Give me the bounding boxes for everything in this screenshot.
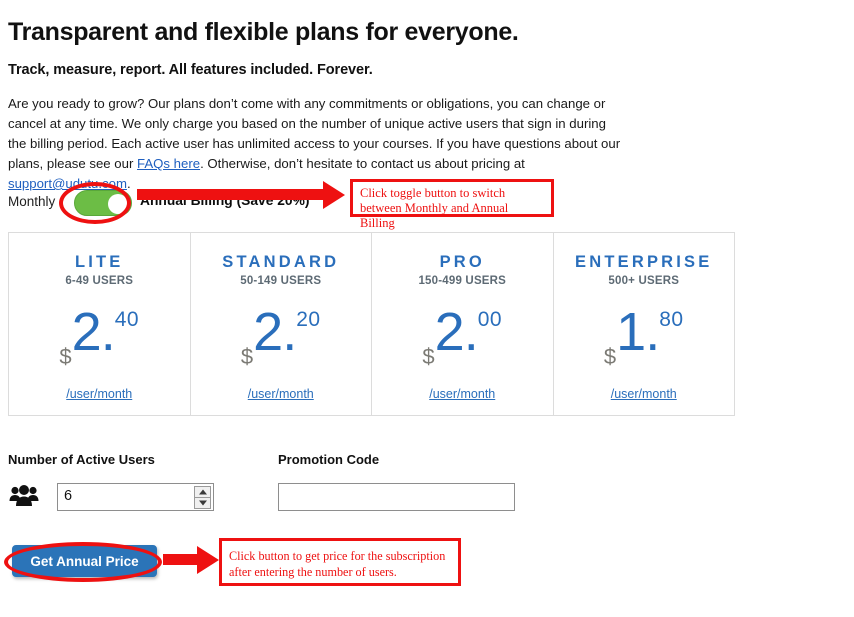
plan-name: PRO xyxy=(372,253,553,272)
active-users-value: 6 xyxy=(64,488,72,504)
plan-name: ENTERPRISE xyxy=(554,253,735,272)
plan-user-range: 6-49 USERS xyxy=(9,275,190,287)
button-annotation-arrow-icon xyxy=(163,545,223,575)
toggle-annotation-arrow-icon xyxy=(137,181,349,211)
promotion-code-input[interactable] xyxy=(278,483,515,511)
pricing-cards: LITE 6-49 USERS $2.40 /user/month STANDA… xyxy=(8,232,735,416)
price-cents: 00 xyxy=(478,308,502,331)
toggle-highlight-ellipse xyxy=(59,182,131,224)
intro-text-part-2: . Otherwise, don’t hesitate to contact u… xyxy=(200,156,525,171)
currency-symbol: $ xyxy=(241,344,253,369)
price-whole: 1. xyxy=(616,302,659,362)
plan-user-range: 50-149 USERS xyxy=(191,275,372,287)
plan-price: $1.80 xyxy=(554,305,735,368)
button-note-line-1: Click button to get price for the subscr… xyxy=(229,548,452,564)
price-cents: 40 xyxy=(115,308,139,331)
plan-period: /user/month xyxy=(191,387,372,401)
active-users-spinner[interactable]: 6 xyxy=(57,483,214,511)
monthly-label: Monthly xyxy=(8,194,55,209)
toggle-annotation-callout: Click toggle button to switch between Mo… xyxy=(350,179,554,217)
promotion-code-label: Promotion Code xyxy=(278,452,379,467)
spinner-decrement-button[interactable] xyxy=(195,498,210,508)
price-whole: 2. xyxy=(435,302,478,362)
plan-period: /user/month xyxy=(554,387,735,401)
plan-period: /user/month xyxy=(372,387,553,401)
plan-name: LITE xyxy=(9,253,190,272)
pricing-card-pro: PRO 150-499 USERS $2.00 /user/month xyxy=(372,233,554,415)
currency-symbol: $ xyxy=(59,344,71,369)
currency-symbol: $ xyxy=(604,344,616,369)
price-cents: 80 xyxy=(659,308,683,331)
plan-period: /user/month xyxy=(9,387,190,401)
pricing-card-enterprise: ENTERPRISE 500+ USERS $1.80 /user/month xyxy=(554,233,735,415)
plan-price: $2.00 xyxy=(372,305,553,368)
pricing-card-lite: LITE 6-49 USERS $2.40 /user/month xyxy=(9,233,191,415)
plan-user-range: 500+ USERS xyxy=(554,275,735,287)
chevron-down-icon xyxy=(199,501,207,506)
currency-symbol: $ xyxy=(422,344,434,369)
price-whole: 2. xyxy=(253,302,296,362)
per-user-month-link[interactable]: /user/month xyxy=(66,387,132,401)
button-annotation-callout: Click button to get price for the subscr… xyxy=(219,538,461,586)
plan-price: $2.20 xyxy=(191,305,372,368)
price-whole: 2. xyxy=(72,302,115,362)
page-subtitle: Track, measure, report. All features inc… xyxy=(8,62,373,78)
per-user-month-link[interactable]: /user/month xyxy=(248,387,314,401)
active-users-label: Number of Active Users xyxy=(8,452,155,467)
toggle-note-line-2: between Monthly and Annual Billing xyxy=(360,201,545,231)
spinner-buttons[interactable] xyxy=(194,486,211,509)
plan-price: $2.40 xyxy=(9,305,190,368)
pricing-card-standard: STANDARD 50-149 USERS $2.20 /user/month xyxy=(191,233,373,415)
per-user-month-link[interactable]: /user/month xyxy=(429,387,495,401)
pricing-page: Transparent and flexible plans for every… xyxy=(0,0,854,617)
plan-user-range: 150-499 USERS xyxy=(372,275,553,287)
toggle-note-line-1: Click toggle button to switch xyxy=(360,186,545,201)
per-user-month-link[interactable]: /user/month xyxy=(611,387,677,401)
plan-name: STANDARD xyxy=(191,253,372,272)
chevron-up-icon xyxy=(199,490,207,495)
intro-text-part-3: . xyxy=(127,176,131,191)
button-highlight-ellipse xyxy=(4,542,162,582)
button-note-line-2: after entering the number of users. xyxy=(229,564,452,580)
faqs-link[interactable]: FAQs here xyxy=(137,156,200,171)
price-cents: 20 xyxy=(296,308,320,331)
page-title: Transparent and flexible plans for every… xyxy=(8,18,519,47)
spinner-increment-button[interactable] xyxy=(195,487,210,498)
people-group-icon xyxy=(8,484,40,508)
